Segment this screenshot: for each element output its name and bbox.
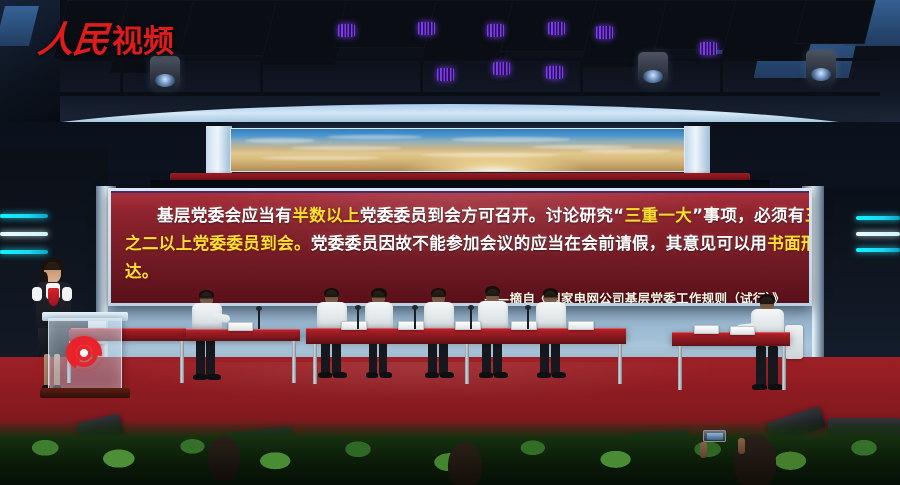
left-table-leg-2	[180, 341, 184, 383]
cyan-led-strip-right-1	[856, 216, 900, 220]
right-table-skirt	[672, 342, 790, 346]
cyan-led-strip-left-2	[0, 232, 48, 236]
participant-leg	[439, 340, 448, 376]
participant-shoe	[207, 374, 221, 380]
logo-block-text: 视频	[112, 27, 174, 58]
moving-light-icon-1	[638, 52, 668, 86]
sunset-sky-screen	[230, 128, 685, 172]
participant-torso	[536, 302, 566, 330]
uv-lamp-icon-4	[548, 22, 565, 35]
presenter-sleeve-right	[62, 287, 72, 301]
participant-leg	[369, 340, 377, 376]
participant-shoe	[425, 372, 439, 378]
audience-head-2	[448, 442, 482, 485]
banner-text-highlight: 之二以上党委委员到会。	[125, 234, 311, 253]
presenter-sleeve-left	[32, 287, 42, 301]
participant-shoe	[537, 372, 551, 378]
participant-shoe	[380, 372, 392, 378]
microphone-left-1	[258, 309, 260, 329]
participant-leg	[540, 340, 549, 376]
logo-calligraphic-text: 人民	[36, 22, 110, 58]
audience-hand-right	[738, 438, 745, 454]
banner-line-3: 达。	[125, 258, 795, 286]
uv-lamp-icon-1	[338, 24, 355, 37]
uv-lamp-icon-6	[437, 68, 454, 81]
main-table-leg-3	[618, 344, 622, 384]
participant-leg	[332, 340, 341, 376]
participant-leg	[206, 338, 215, 378]
uv-lamp-icon-3	[487, 24, 504, 37]
participant-shoe	[333, 372, 347, 378]
truss-bar-lower	[60, 92, 880, 96]
banner-attribution: ——摘自《国家电网公司基层党委工作规则（试行）》	[125, 288, 795, 303]
banner-text-plain: 党委委员到会方可召开。讨论研究“	[360, 206, 625, 225]
people-video-logo: 人民 视频	[38, 22, 174, 58]
truss-diagonal-5	[720, 60, 723, 94]
audience-head-1	[208, 436, 240, 480]
cyan-led-strip-left-3	[0, 250, 48, 254]
banner-line-2: 之二以上党委委员到会。党委委员因故不能参加会议的应当在会前请假，其意见可以用书面…	[125, 230, 795, 258]
uv-lamp-icon-8	[546, 66, 563, 79]
left-table-leg-3	[292, 341, 296, 383]
microphone-center-3	[470, 308, 472, 329]
red-quote-banner: 基层党委会应当有半数以上党委委员到会方可召开。讨论研究“三重一大”事项，必须有三…	[111, 191, 809, 303]
truss-diagonal-1	[120, 60, 123, 94]
banner-line-1: 基层党委会应当有半数以上党委委员到会方可召开。讨论研究“三重一大”事项，必须有三…	[125, 202, 795, 230]
participant-leg	[482, 340, 491, 376]
main-led-banner-frame: 基层党委会应当有半数以上党委委员到会方可召开。讨论研究“三重一大”事项，必须有三…	[108, 188, 812, 306]
participant-shoe	[768, 384, 783, 390]
main-table-leg-1	[313, 344, 317, 384]
microphone-center-1	[357, 308, 359, 329]
uv-lamp-icon-2	[418, 22, 435, 35]
cloud-6	[421, 153, 561, 157]
participant-leg	[379, 340, 387, 376]
participant-leg	[551, 340, 560, 376]
name-card-right-1	[694, 325, 719, 334]
moving-light-icon-2	[150, 56, 180, 90]
uv-lamp-icon-7	[493, 62, 510, 75]
podium-spiral-logo-icon	[66, 336, 102, 370]
right-table-leg-2	[782, 346, 786, 390]
participant-shoe	[552, 372, 566, 378]
participant-torso	[424, 302, 454, 330]
truss-bar-upper	[60, 58, 880, 61]
banner-text-plain: ”事项，必须有	[692, 206, 805, 225]
name-card-right-2	[730, 326, 755, 335]
banner-text-highlight: 书面形式表	[767, 234, 809, 253]
name-card-left-1	[228, 322, 253, 331]
cyan-led-strip-right-2	[856, 232, 900, 236]
participant-shoe	[366, 372, 378, 378]
participant-torso	[365, 302, 393, 330]
uv-lamp-icon-9	[700, 42, 717, 55]
banner-text-highlight: 半数以上	[292, 206, 360, 225]
moving-light-icon-3	[806, 50, 836, 84]
participant-leg	[321, 340, 330, 376]
truss-diagonal-4	[580, 60, 583, 94]
name-card-center-5	[568, 321, 594, 330]
cloud-8	[261, 156, 381, 160]
presenter-scarf	[48, 288, 59, 306]
banner-text-highlight: 达。	[125, 262, 159, 281]
rig-box-11	[795, 0, 876, 44]
banner-text-highlight: 三重一大	[625, 206, 693, 225]
cloud-3	[291, 146, 401, 150]
main-table-leg-2	[465, 344, 469, 384]
participant-shoe	[479, 372, 493, 378]
banner-text-plain: 党委委员因故不能参加会议的应当在会前请假，其意见可以用	[311, 234, 767, 253]
sky-screen-left-frame	[206, 126, 232, 176]
participant-leg	[756, 346, 766, 388]
cloud-1	[245, 138, 315, 143]
sky-screen-right-frame	[684, 126, 710, 176]
name-card-center-4	[511, 321, 537, 330]
participant-shoe	[318, 372, 332, 378]
handheld-camera-icon	[703, 430, 726, 442]
participant-leg	[428, 340, 437, 376]
podium-base	[40, 388, 130, 398]
right-table-leg-1	[678, 346, 682, 390]
microphone-center-2	[414, 308, 416, 329]
cloud-7	[581, 149, 671, 153]
uv-lamp-icon-5	[596, 26, 613, 39]
banner-text-highlight: 三分	[805, 206, 809, 225]
participant-torso	[478, 301, 508, 330]
audience-hand-left	[700, 442, 707, 458]
participant-shoe	[193, 374, 207, 380]
participant-shoe	[752, 384, 767, 390]
cloud-2	[327, 135, 422, 139]
name-card-center-3	[455, 321, 481, 330]
participant-leg	[196, 338, 205, 378]
back-wall-right-dark	[812, 188, 900, 364]
name-card-center-2	[398, 321, 424, 330]
screenshot-root: 基层党委会应当有半数以上党委委员到会方可召开。讨论研究“三重一大”事项，必须有三…	[0, 0, 900, 485]
participant-leg	[768, 346, 778, 388]
microphone-center-4	[527, 308, 529, 329]
participant-shoe	[494, 372, 508, 378]
cyan-led-strip-right-3	[856, 248, 900, 252]
cloud-4	[451, 137, 571, 142]
truss-diagonal-3	[420, 60, 423, 94]
banner-text-plain: 基层党委会应当有	[157, 206, 292, 225]
name-card-center-1	[341, 321, 367, 330]
participant-shoe	[440, 372, 454, 378]
participant-leg	[493, 340, 502, 376]
cyan-led-strip-left-1	[0, 214, 48, 218]
truss-diagonal-2	[260, 60, 263, 94]
